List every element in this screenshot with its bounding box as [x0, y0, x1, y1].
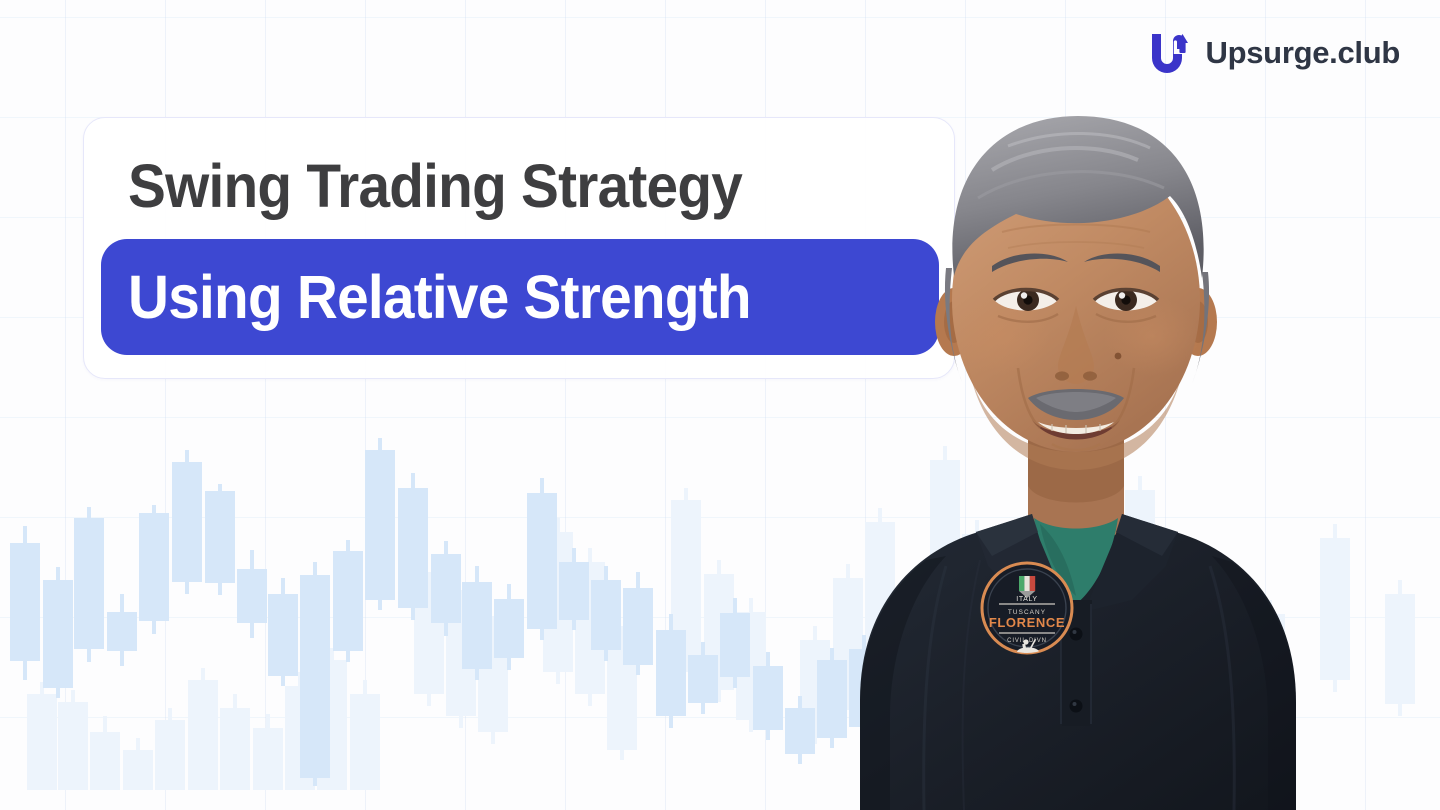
candle-wick — [168, 708, 172, 790]
candle-wick — [313, 562, 317, 786]
candle-body — [833, 578, 863, 698]
candle-body — [930, 460, 960, 640]
candle-wick — [620, 626, 624, 760]
candle-body — [1060, 630, 1090, 730]
candle-wick — [152, 505, 156, 634]
candle-body — [90, 732, 120, 790]
candle-body — [1125, 490, 1155, 660]
candle-body — [74, 518, 104, 649]
candle-wick — [975, 520, 979, 692]
undershirt — [1034, 518, 1118, 604]
candle-wick — [103, 716, 107, 790]
candle-body — [656, 630, 686, 716]
svg-text:FLORENCE: FLORENCE — [989, 615, 1065, 630]
candle-body — [671, 500, 701, 660]
candle-wick — [1138, 476, 1142, 672]
candle-body — [333, 551, 363, 651]
candle-body — [43, 580, 73, 688]
brand-logo[interactable]: Upsurge.club — [1149, 28, 1400, 76]
candle-body — [107, 612, 137, 651]
title-card: Swing Trading Strategy Using Relative St… — [83, 117, 955, 379]
candle-wick — [87, 507, 91, 662]
candle-body — [688, 655, 718, 703]
candle-wick — [1203, 574, 1207, 712]
eyes — [994, 289, 1158, 322]
page-title-subheadline: Using Relative Strength — [128, 267, 751, 328]
candle-body — [800, 640, 830, 732]
candle-wick — [507, 584, 511, 670]
candle-wick — [895, 624, 899, 725]
candle-body — [753, 666, 783, 730]
candle-body — [317, 660, 347, 790]
candle-body — [849, 649, 879, 727]
candle-body — [720, 613, 750, 677]
candle-body — [882, 637, 912, 714]
candle-body — [527, 493, 557, 629]
candle-wick — [1073, 614, 1077, 742]
candle-body — [414, 585, 444, 694]
candle-wick — [218, 484, 222, 595]
candle-wick — [572, 548, 576, 630]
candle-wick — [749, 598, 753, 732]
candle-wick — [636, 572, 640, 675]
candle-wick — [427, 572, 431, 706]
candle-body — [623, 588, 653, 665]
candle-wick — [1333, 524, 1337, 692]
candle-wick — [459, 590, 463, 728]
candle-wick — [846, 564, 850, 710]
candle-wick — [878, 508, 882, 682]
candle-body — [205, 491, 235, 583]
candle-wick — [1105, 552, 1109, 706]
candle-body — [172, 462, 202, 582]
florence-crest-badge: ITALY TUSCANY FLORENCE CIVIL DIVN — [982, 563, 1072, 657]
svg-text:CIVIL DIVN: CIVIL DIVN — [1007, 638, 1047, 644]
candle-body — [995, 600, 1025, 710]
page-title-headline: Swing Trading Strategy — [128, 156, 896, 217]
candle-wick — [1008, 586, 1012, 722]
candle-wick — [40, 682, 44, 790]
candle-body — [704, 574, 734, 690]
candle-wick — [475, 566, 479, 680]
upsurge-u-arrow-logo-icon — [1149, 28, 1193, 76]
candle-body — [543, 532, 573, 672]
candle-body — [462, 582, 492, 669]
candle-wick — [201, 668, 205, 790]
candle-body — [1092, 566, 1122, 694]
thumbnail-canvas: Upsurge.club Swing Trading Strategy Usin… — [0, 0, 1440, 810]
candle-group-faint — [27, 446, 1415, 790]
candle-wick — [298, 672, 302, 790]
candle-wick — [733, 598, 737, 688]
title-highlight-pill: Using Relative Strength — [101, 239, 939, 355]
candle-wick — [136, 738, 140, 790]
candle-wick — [684, 488, 688, 672]
candle-wick — [491, 616, 495, 744]
candle-body — [1255, 614, 1285, 720]
polo-collar — [976, 514, 1178, 726]
candle-wick — [588, 548, 592, 706]
candle-body — [575, 562, 605, 694]
candle-body — [446, 604, 476, 716]
candle-wick — [23, 526, 27, 680]
candle-wick — [604, 566, 608, 661]
candle-wick — [281, 578, 285, 686]
candle-wick — [556, 518, 560, 684]
candle-wick — [862, 635, 866, 738]
presenter-torso — [860, 512, 1296, 810]
candle-body — [1320, 538, 1350, 680]
candle-body — [155, 720, 185, 790]
candle-wick — [120, 594, 124, 666]
candle-wick — [766, 652, 770, 740]
candle-wick — [540, 478, 544, 640]
svg-text:ITALY: ITALY — [1016, 596, 1037, 603]
candle-body — [253, 728, 283, 790]
candle-body — [268, 594, 298, 676]
candle-body — [350, 694, 380, 790]
candle-wick — [363, 680, 367, 790]
candle-body — [1385, 594, 1415, 704]
candle-body — [736, 612, 766, 720]
candle-body — [58, 702, 88, 790]
candle-body — [220, 708, 250, 790]
candle-body — [607, 640, 637, 750]
candle-body — [139, 513, 169, 621]
svg-text:TUSCANY: TUSCANY — [1008, 609, 1046, 616]
candle-wick — [185, 450, 189, 594]
candle-wick — [71, 690, 75, 790]
candle-wick — [411, 473, 415, 620]
candle-wick — [346, 540, 350, 662]
candle-wick — [1268, 600, 1272, 732]
candle-body — [478, 630, 508, 732]
candle-body — [300, 575, 330, 778]
candle-wick — [250, 550, 254, 638]
candle-body — [10, 543, 40, 661]
candle-wick — [798, 696, 802, 764]
candle-body — [365, 450, 395, 600]
candle-wick — [701, 642, 705, 714]
candle-wick — [266, 714, 270, 790]
candle-body — [123, 750, 153, 790]
candle-wick — [378, 438, 382, 610]
presenter-head — [945, 116, 1209, 470]
candle-wick — [330, 648, 334, 790]
candle-body — [817, 660, 847, 738]
candle-body — [431, 554, 461, 623]
candle-body — [494, 599, 524, 658]
presenter-neck — [1028, 430, 1124, 544]
candle-body — [559, 562, 589, 620]
candle-wick — [669, 614, 673, 728]
candle-wick — [444, 541, 448, 636]
candle-body — [785, 708, 815, 754]
candle-wick — [717, 560, 721, 702]
candle-body — [398, 488, 428, 608]
candle-wick — [813, 626, 817, 744]
candle-wick — [830, 648, 834, 748]
candle-body — [865, 522, 895, 670]
candle-body — [188, 680, 218, 790]
candle-wick — [56, 567, 60, 698]
candle-body — [285, 686, 315, 790]
candle-body — [237, 569, 267, 623]
candle-wick — [943, 446, 947, 652]
candle-body — [27, 694, 57, 790]
brand-name: Upsurge.club — [1206, 37, 1400, 68]
candle-body — [591, 580, 621, 650]
candle-wick — [1398, 580, 1402, 716]
candle-body — [1190, 590, 1220, 700]
candle-wick — [233, 694, 237, 790]
candle-group-foreground — [10, 438, 912, 786]
candle-body — [962, 534, 992, 680]
